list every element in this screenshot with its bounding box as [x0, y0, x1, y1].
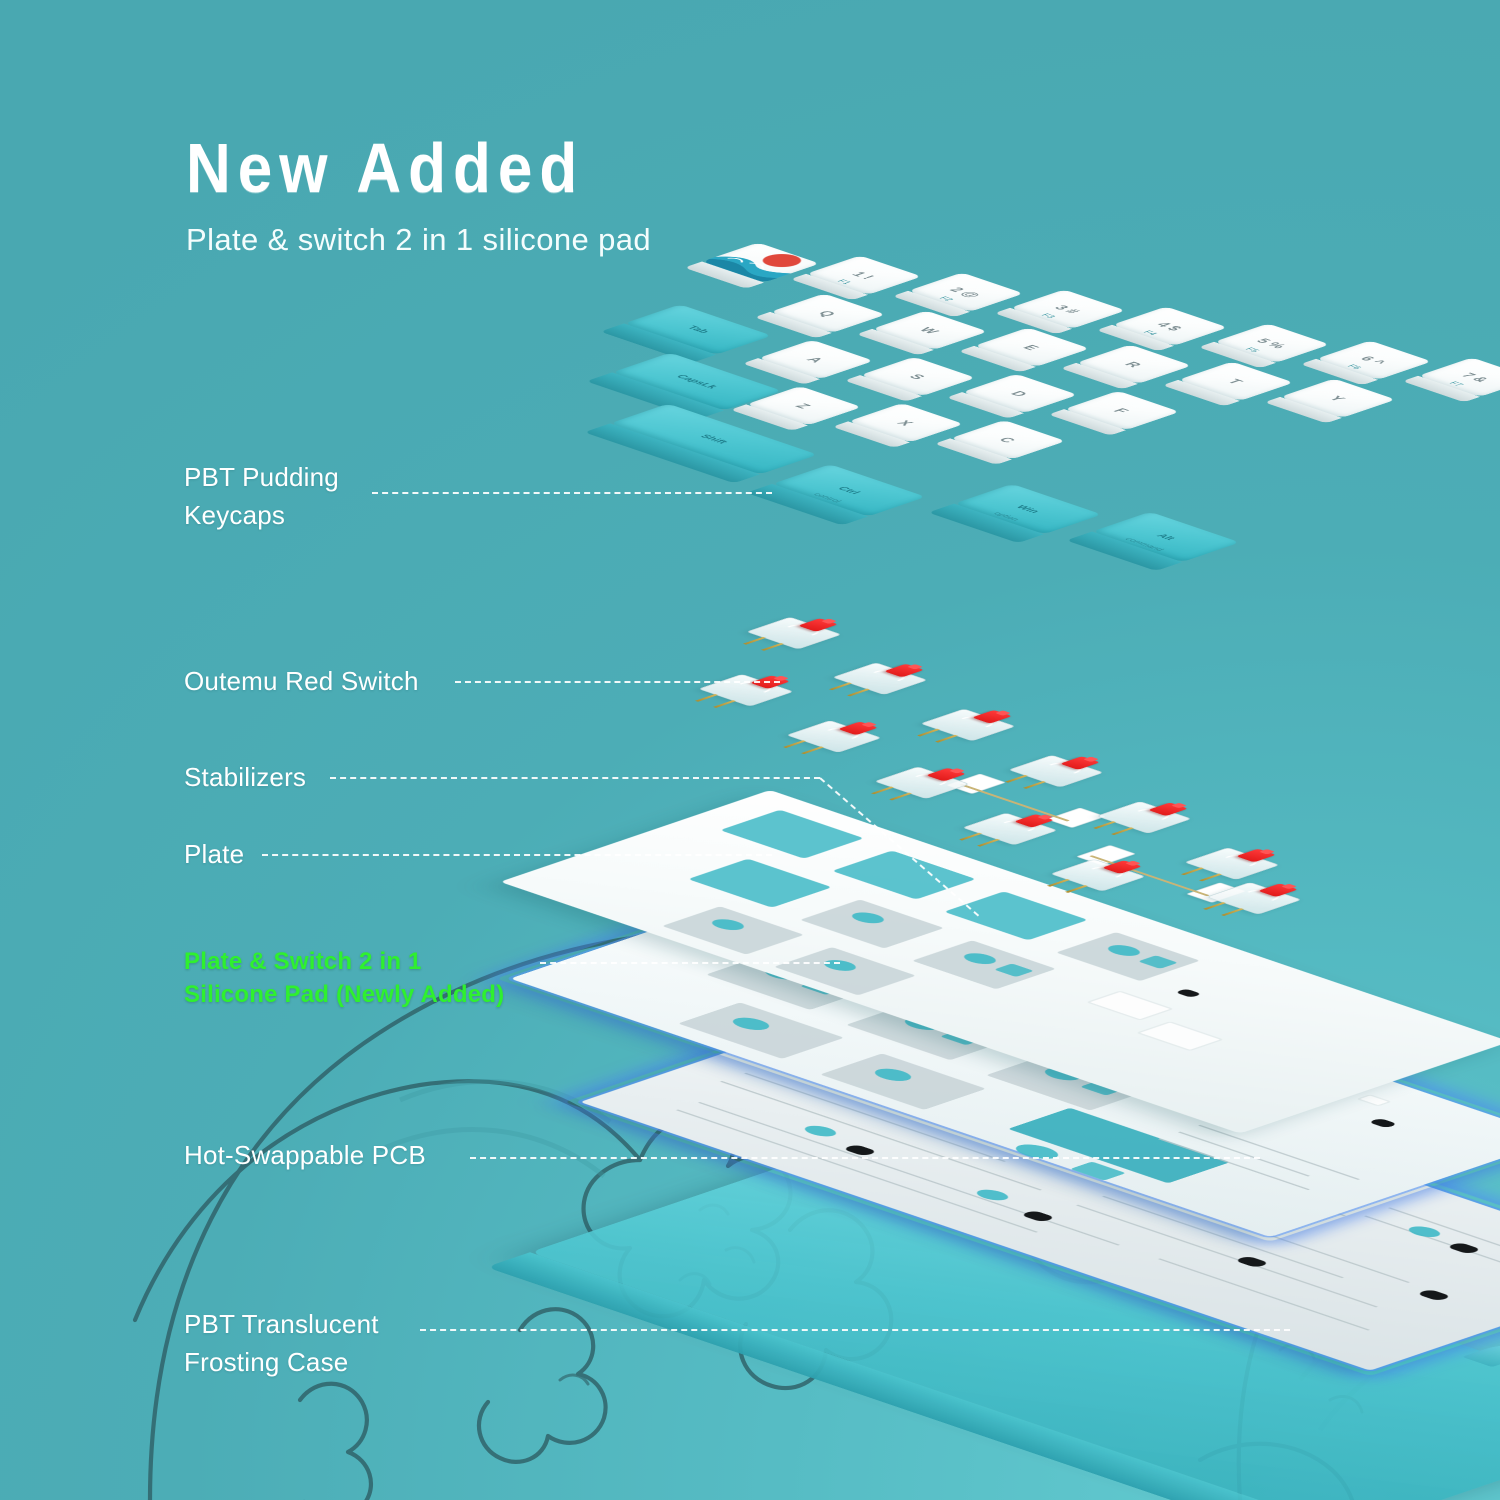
keycap-legend: CapsLk	[612, 353, 782, 411]
callout-case: PBT Translucent Frosting Case	[184, 1305, 379, 1381]
keycap-legend: X	[848, 403, 964, 442]
page-title: New Added	[186, 135, 651, 204]
keycap-sub-legend: option	[954, 484, 1102, 534]
outemu-red-switch	[1206, 882, 1302, 915]
frosting-case-top	[530, 1140, 1500, 1500]
layer-keycaps: 1 ! F1 2 @ F2 3 # F3 4 $ F4 5 % F5	[440, 250, 1500, 651]
keycap-escape-great-wave	[702, 243, 820, 283]
hot-swappable-pcb-board	[580, 1000, 1500, 1371]
layer-switches	[490, 610, 1500, 957]
outemu-red-switch	[1008, 755, 1104, 788]
outemu-red-switch	[698, 674, 794, 707]
keycap-legend: Tab	[624, 304, 772, 354]
keycap-3: 3 # F3	[1010, 289, 1126, 328]
keycap-legend: Z	[746, 386, 862, 425]
keycap-legend: 6 ^	[1316, 340, 1432, 379]
keycap-f: F	[1064, 391, 1180, 430]
keycap-x: X	[848, 403, 964, 442]
layer-case	[530, 1140, 1500, 1500]
keycap-r: R	[1076, 345, 1192, 384]
callout-label: PBT Translucent Frosting Case	[184, 1305, 379, 1381]
keycap-z: Z	[746, 386, 862, 425]
callout-label: Hot-Swappable PCB	[184, 1136, 426, 1174]
leader-line-stabilizers-diagonal	[819, 777, 979, 916]
leader-line-plate	[262, 854, 772, 856]
keycap-legend: Alt	[1092, 512, 1240, 562]
keycap-capslock: CapsLk	[612, 353, 782, 411]
keycap-legend: D	[962, 374, 1078, 413]
outemu-red-switch	[746, 617, 842, 650]
infographic-canvas: New Added Plate & switch 2 in 1 silicone…	[0, 0, 1500, 1500]
keycap-alt: Alt command	[1092, 512, 1240, 562]
keycap-legend: 4 $	[1112, 306, 1228, 345]
keycap-a: A	[758, 340, 874, 379]
keycap-t: T	[1178, 362, 1294, 401]
keycap-q: Q	[770, 294, 886, 333]
leader-line-pcb	[470, 1157, 1260, 1159]
keycap-legend: W	[872, 311, 988, 350]
callout-label: Outemu Red Switch	[184, 662, 419, 700]
keycap-7: 7 & F7	[1418, 357, 1500, 396]
keycap-4: 4 $ F4	[1112, 306, 1228, 345]
outemu-red-switch	[786, 720, 882, 753]
callout-silicone-pad: Plate & Switch 2 in 1 Silicone Pad (Newl…	[184, 945, 504, 1011]
outemu-red-switch	[874, 766, 970, 799]
keycap-sub-legend: F7	[1418, 357, 1500, 396]
keycap-legend: 5 %	[1214, 323, 1330, 362]
stabilizer-housing	[946, 774, 1006, 794]
callout-pcb: Hot-Swappable PCB	[184, 1136, 426, 1174]
callout-plate: Plate	[184, 835, 244, 873]
keycap-legend: E	[974, 328, 1090, 367]
outemu-red-switch	[1096, 801, 1192, 834]
outemu-red-switch	[920, 709, 1016, 742]
callout-label: Stabilizers	[184, 758, 306, 796]
keycap-sub-legend: command	[1092, 512, 1240, 562]
layer-pcb	[580, 1000, 1500, 1371]
keycap-sub-legend: F2	[908, 272, 1024, 311]
keycap-legend: Q	[770, 294, 886, 333]
title-block: New Added Plate & switch 2 in 1 silicone…	[186, 135, 651, 257]
keycap-y: Y	[1280, 379, 1396, 418]
callout-keycaps: PBT Pudding Keycaps	[184, 458, 339, 534]
keycap-w: W	[872, 311, 988, 350]
keycap-sub-legend: F3	[1010, 289, 1126, 328]
stabilizer-housing	[1186, 882, 1246, 902]
keycap-legend: Ctrl	[772, 464, 926, 516]
callout-label: Plate	[184, 835, 244, 873]
outemu-red-switch	[832, 662, 928, 695]
stabilizer-wire	[959, 784, 1070, 822]
keycap-c: C	[950, 420, 1066, 459]
keycap-sub-legend: F6	[1316, 340, 1432, 379]
callout-label: PBT Pudding Keycaps	[184, 458, 339, 534]
stabilizer-wire	[1089, 855, 1210, 896]
keycap-sub-legend: F4	[1112, 306, 1228, 345]
keycap-s: S	[860, 357, 976, 396]
stabilizer-housing	[1076, 845, 1136, 865]
stabilizer-housing	[1046, 808, 1106, 828]
leader-line-switch	[455, 681, 780, 683]
keycap-legend: Y	[1280, 379, 1396, 418]
keycap-legend: 3 #	[1010, 289, 1126, 328]
keycap-legend: 7 &	[1418, 357, 1500, 396]
keycap-sub-legend: control	[772, 464, 926, 516]
page-subtitle: Plate & switch 2 in 1 silicone pad	[186, 223, 651, 257]
leader-line-keycaps	[372, 492, 772, 494]
keycap-tab: Tab	[624, 304, 772, 354]
keycap-legend: 1 !	[806, 255, 922, 294]
outemu-red-switch	[1050, 859, 1146, 892]
keycap-sub-legend: F5	[1214, 323, 1330, 362]
callout-stabilizers: Stabilizers	[184, 758, 306, 796]
keycap-e: E	[974, 328, 1090, 367]
outemu-red-switch	[962, 813, 1058, 846]
keycap-2: 2 @ F2	[908, 272, 1024, 311]
keycap-legend: Win	[954, 484, 1102, 534]
keycap-legend: F	[1064, 391, 1180, 430]
keycap-shift: Shift	[610, 404, 818, 475]
leader-line-silicone-pad	[540, 962, 840, 964]
keycap-d: D	[962, 374, 1078, 413]
great-wave-keycap-art	[702, 250, 799, 283]
leader-line-case	[420, 1329, 1290, 1331]
frosting-case-wall	[486, 1252, 1350, 1500]
keycap-sub-legend: F1	[806, 255, 922, 294]
callout-label: Plate & Switch 2 in 1 Silicone Pad (Newl…	[184, 945, 504, 1011]
keycap-win: Win option	[954, 484, 1102, 534]
keycap-legend: T	[1178, 362, 1294, 401]
keycap-legend: C	[950, 420, 1066, 459]
keycap-legend: S	[860, 357, 976, 396]
case-standoff-post	[1462, 1342, 1500, 1367]
case-standoff-post	[1092, 1216, 1166, 1241]
layer-stabilizers	[800, 760, 1400, 964]
callout-switch: Outemu Red Switch	[184, 662, 419, 700]
keycap-legend: R	[1076, 345, 1192, 384]
keycap-legend: Shift	[610, 404, 818, 475]
keycap-legend: A	[758, 340, 874, 379]
keycap-legend: 2 @	[908, 272, 1024, 311]
plate-switch-silicone-pad	[510, 880, 1500, 1237]
keycap-1: 1 ! F1	[806, 255, 922, 294]
keycap-6: 6 ^ F6	[1316, 340, 1432, 379]
outemu-red-switch	[1184, 847, 1280, 880]
leader-line-stabilizers	[330, 777, 820, 779]
layer-silicone-pad	[510, 880, 1500, 1237]
keycap-ctrl: Ctrl control	[772, 464, 926, 516]
keycap-5: 5 % F5	[1214, 323, 1330, 362]
